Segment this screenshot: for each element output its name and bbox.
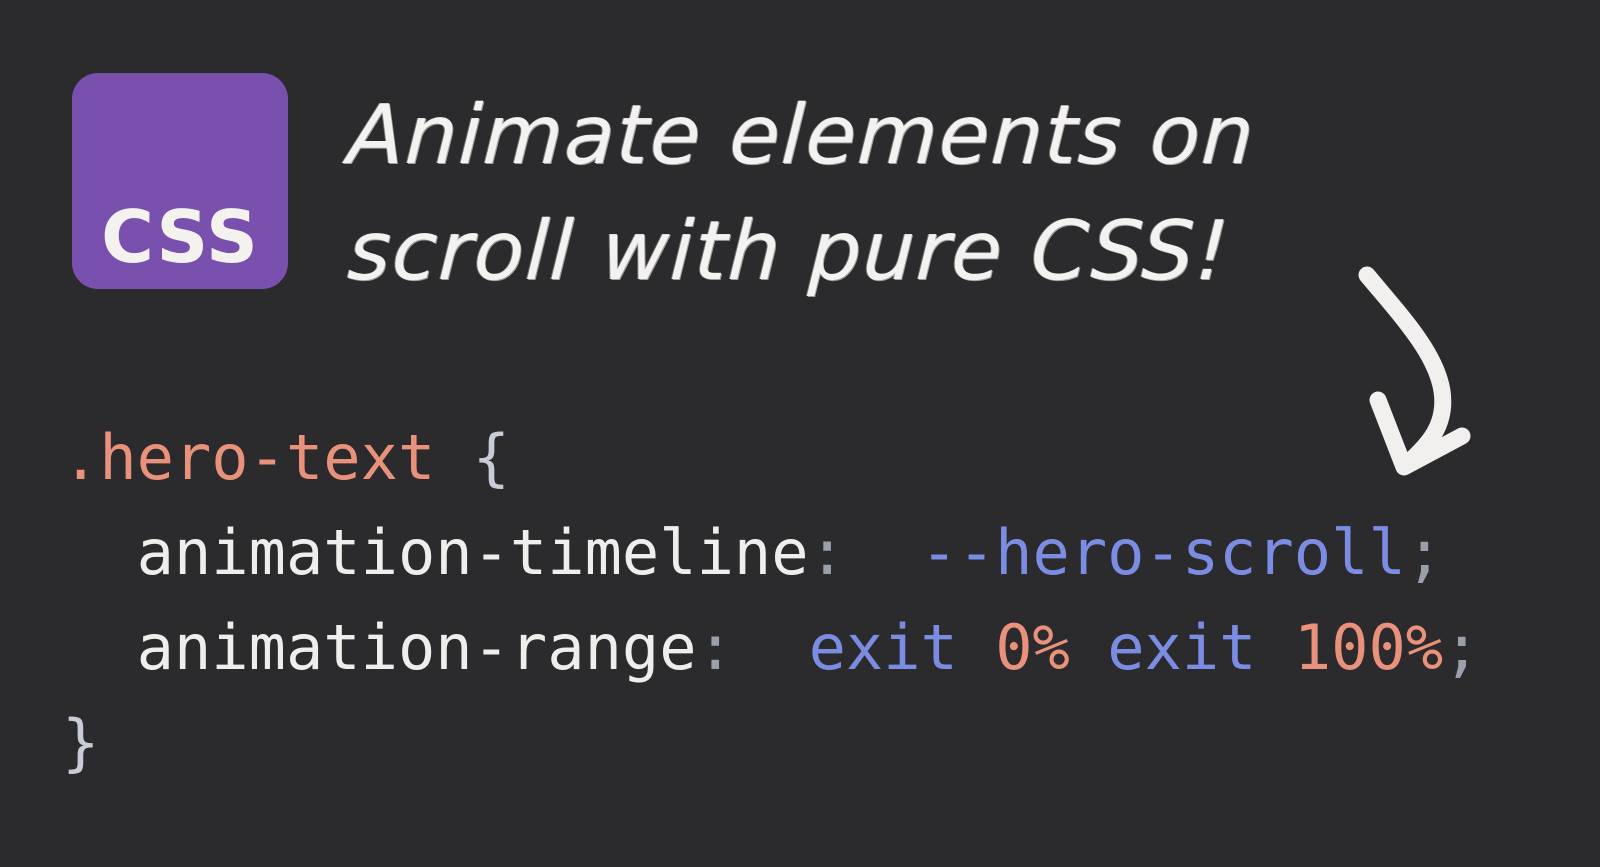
- code-line: }: [62, 695, 1480, 790]
- code-token-colon: :: [809, 516, 846, 589]
- code-block: .hero-text { animation-timeline: --hero-…: [62, 410, 1480, 790]
- slide-canvas: CSS Animate elements on scroll with pure…: [0, 0, 1600, 867]
- code-token-keyword: exit: [809, 611, 958, 684]
- code-token-number: 0%: [995, 611, 1070, 684]
- code-token-plain: [62, 516, 137, 589]
- code-token-selector: .hero-text: [62, 421, 435, 494]
- code-token-var: --hero-scroll: [921, 516, 1406, 589]
- code-token-plain: [1257, 611, 1294, 684]
- headline-line-2: scroll with pure CSS!: [345, 194, 1411, 310]
- code-token-brace: {: [473, 421, 510, 494]
- code-token-colon: :: [697, 611, 734, 684]
- css-logo-label: CSS: [101, 201, 259, 273]
- code-token-semi: ;: [1443, 611, 1480, 684]
- code-token-prop: animation-timeline: [137, 516, 809, 589]
- code-line: animation-timeline: --hero-scroll;: [62, 505, 1480, 600]
- code-token-plain: [435, 421, 472, 494]
- code-token-brace: }: [62, 706, 99, 779]
- code-token-semi: ;: [1406, 516, 1443, 589]
- css-logo-badge: CSS: [72, 73, 288, 289]
- code-token-plain: [846, 516, 921, 589]
- code-token-plain: [734, 611, 809, 684]
- headline: Animate elements on scroll with pure CSS…: [348, 78, 1408, 310]
- code-token-plain: [958, 611, 995, 684]
- code-line: .hero-text {: [62, 410, 1480, 505]
- code-token-keyword: exit: [1107, 611, 1256, 684]
- code-token-number: 100%: [1294, 611, 1443, 684]
- code-token-plain: [1070, 611, 1107, 684]
- code-token-plain: [62, 611, 137, 684]
- code-token-prop: animation-range: [137, 611, 697, 684]
- headline-line-1: Animate elements on: [345, 78, 1411, 194]
- code-line: animation-range: exit 0% exit 100%;: [62, 600, 1480, 695]
